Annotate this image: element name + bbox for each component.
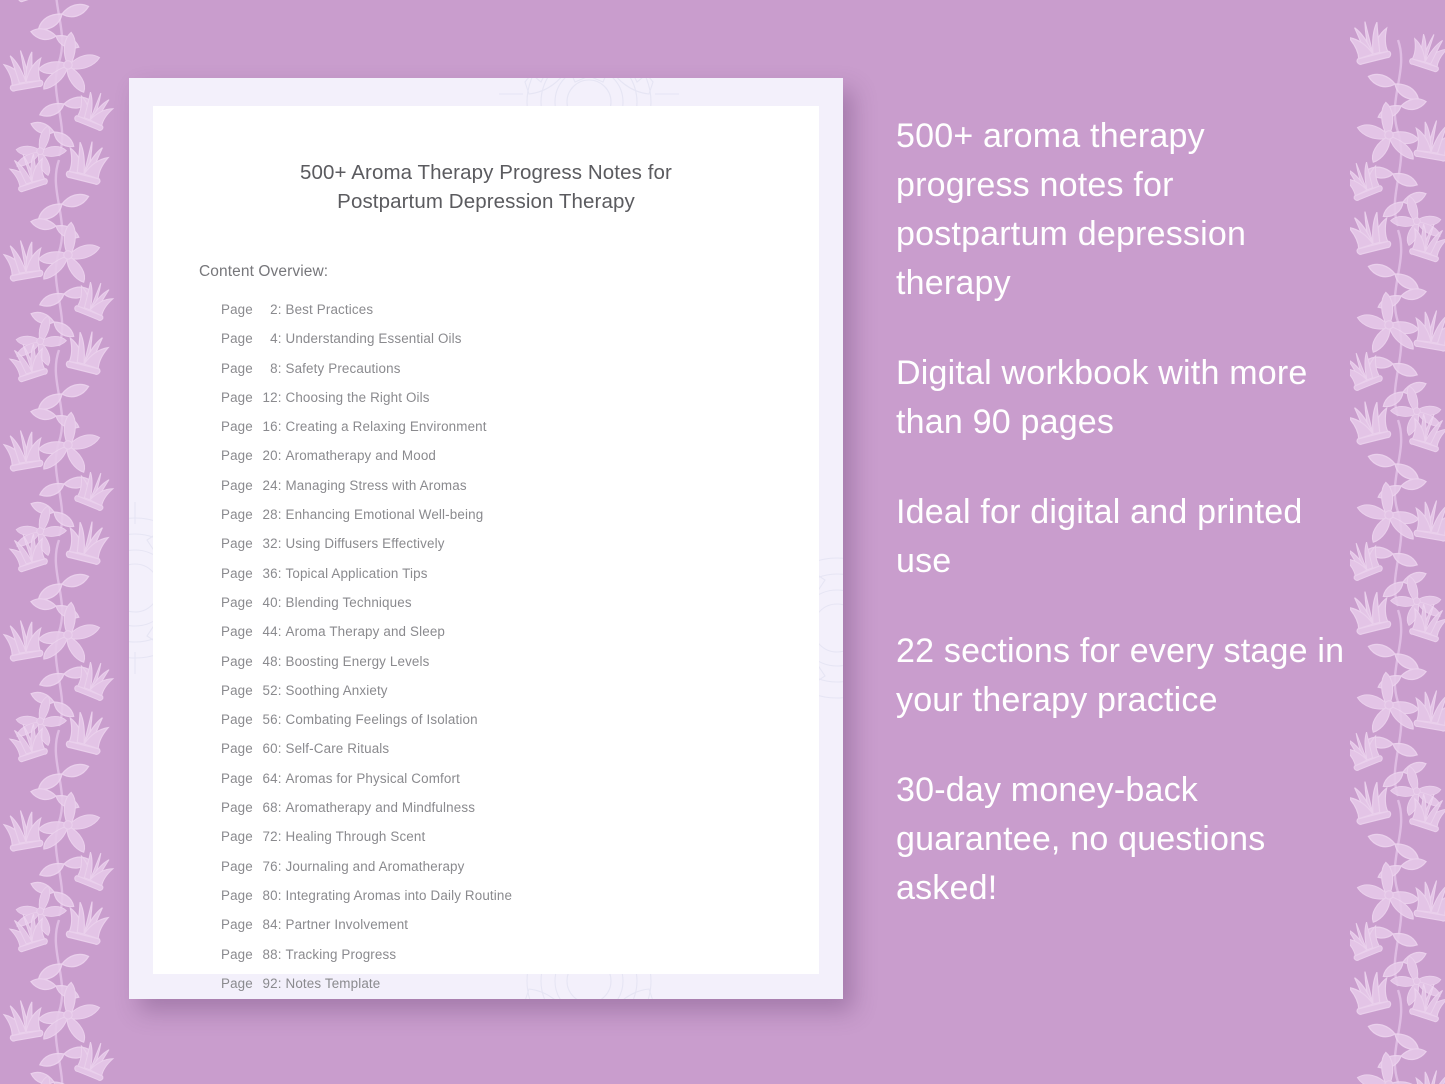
list-item: Page 8: Safety Precautions: [221, 361, 819, 376]
toc-section-title: Enhancing Emotional Well-being: [286, 507, 484, 522]
toc-page-word: Page: [221, 361, 257, 376]
toc-page-word: Page: [221, 624, 257, 639]
list-item: Page 52: Soothing Anxiety: [221, 683, 819, 698]
toc-page-number: 20: [257, 448, 278, 463]
list-item: Page 32: Using Diffusers Effectively: [221, 536, 819, 551]
toc-separator: :: [278, 947, 286, 962]
toc-page-word: Page: [221, 683, 257, 698]
page-title-line-1: 500+ Aroma Therapy Progress Notes for: [300, 161, 672, 184]
toc-separator: :: [278, 419, 286, 434]
toc-page-word: Page: [221, 507, 257, 522]
toc-page-number: 2: [257, 302, 278, 317]
toc-separator: :: [278, 800, 286, 815]
toc-section-title: Healing Through Scent: [286, 829, 426, 844]
toc-page-number: 16: [257, 419, 278, 434]
marketing-block: 22 sections for every stage in your ther…: [896, 627, 1348, 725]
toc-page-number: 60: [257, 741, 278, 756]
toc-separator: :: [278, 771, 286, 786]
toc-section-title: Understanding Essential Oils: [286, 331, 462, 346]
toc-page-number: 56: [257, 712, 278, 727]
toc-separator: :: [278, 331, 286, 346]
list-item: Page 64: Aromas for Physical Comfort: [221, 771, 819, 786]
list-item: Page 68: Aromatherapy and Mindfulness: [221, 800, 819, 815]
toc-page-number: 76: [257, 859, 278, 874]
content-overview-label: Content Overview:: [199, 263, 819, 281]
list-item: Page 4: Understanding Essential Oils: [221, 331, 819, 346]
toc-section-title: Safety Precautions: [286, 361, 401, 376]
toc-separator: :: [278, 448, 286, 463]
toc-section-title: Choosing the Right Oils: [286, 390, 430, 405]
toc-section-title: Tracking Progress: [286, 947, 397, 962]
toc-section-title: Combating Feelings of Isolation: [286, 712, 478, 727]
list-item: Page 92: Notes Template: [221, 976, 819, 991]
floral-border-left: [0, 0, 118, 1084]
list-item: Page 36: Topical Application Tips: [221, 566, 819, 581]
toc-separator: :: [278, 917, 286, 932]
toc-page-word: Page: [221, 419, 257, 434]
floral-border-right: [1350, 0, 1445, 1084]
toc-page-number: 28: [257, 507, 278, 522]
toc-page-word: Page: [221, 947, 257, 962]
toc-page-word: Page: [221, 888, 257, 903]
toc-separator: :: [278, 478, 286, 493]
toc-section-title: Soothing Anxiety: [286, 683, 388, 698]
toc-page-word: Page: [221, 800, 257, 815]
toc-section-title: Aromatherapy and Mood: [286, 448, 437, 463]
page-title-line-2: Postpartum Depression Therapy: [337, 190, 635, 213]
list-item: Page 24: Managing Stress with Aromas: [221, 478, 819, 493]
toc-separator: :: [278, 595, 286, 610]
toc-section-title: Managing Stress with Aromas: [286, 478, 467, 493]
list-item: Page 56: Combating Feelings of Isolation: [221, 712, 819, 727]
toc-section-title: Using Diffusers Effectively: [286, 536, 445, 551]
toc-section-title: Blending Techniques: [286, 595, 412, 610]
toc-separator: :: [278, 741, 286, 756]
toc-separator: :: [278, 507, 286, 522]
toc-page-number: 84: [257, 917, 278, 932]
toc-separator: :: [278, 683, 286, 698]
list-item: Page 60: Self-Care Rituals: [221, 741, 819, 756]
document-card: 500+ Aroma Therapy Progress Notes for Po…: [129, 78, 843, 999]
list-item: Page 28: Enhancing Emotional Well-being: [221, 507, 819, 522]
toc-page-word: Page: [221, 478, 257, 493]
marketing-panel: 500+ aroma therapy progress notes for po…: [896, 112, 1348, 913]
toc-separator: :: [278, 976, 286, 991]
document-page: 500+ Aroma Therapy Progress Notes for Po…: [153, 106, 819, 974]
toc-separator: :: [278, 624, 286, 639]
list-item: Page 44: Aroma Therapy and Sleep: [221, 624, 819, 639]
toc-page-number: 48: [257, 654, 278, 669]
toc-page-number: 44: [257, 624, 278, 639]
toc-page-word: Page: [221, 859, 257, 874]
toc-page-number: 80: [257, 888, 278, 903]
list-item: Page 76: Journaling and Aromatherapy: [221, 859, 819, 874]
toc-page-word: Page: [221, 741, 257, 756]
floral-vine-icon: [1350, 0, 1445, 1084]
list-item: Page 20: Aromatherapy and Mood: [221, 448, 819, 463]
toc-section-title: Best Practices: [286, 302, 374, 317]
toc-separator: :: [278, 859, 286, 874]
toc-section-title: Partner Involvement: [286, 917, 409, 932]
toc-separator: :: [278, 536, 286, 551]
toc-page-word: Page: [221, 976, 257, 991]
toc-separator: :: [278, 390, 286, 405]
toc-page-number: 12: [257, 390, 278, 405]
page-title: 500+ Aroma Therapy Progress Notes for Po…: [205, 158, 767, 216]
toc-separator: :: [278, 654, 286, 669]
marketing-block: 500+ aroma therapy progress notes for po…: [896, 112, 1348, 308]
toc-page-number: 4: [257, 331, 278, 346]
list-item: Page 12: Choosing the Right Oils: [221, 390, 819, 405]
toc-page-word: Page: [221, 390, 257, 405]
toc-page-number: 88: [257, 947, 278, 962]
toc-section-title: Integrating Aromas into Daily Routine: [286, 888, 513, 903]
list-item: Page 48: Boosting Energy Levels: [221, 654, 819, 669]
marketing-block: Digital workbook with more than 90 pages: [896, 349, 1348, 447]
toc-section-title: Creating a Relaxing Environment: [286, 419, 487, 434]
toc-page-word: Page: [221, 536, 257, 551]
toc-section-title: Topical Application Tips: [286, 566, 428, 581]
toc-section-title: Journaling and Aromatherapy: [286, 859, 465, 874]
toc-page-number: 40: [257, 595, 278, 610]
toc-page-number: 8: [257, 361, 278, 376]
toc-section-title: Aroma Therapy and Sleep: [286, 624, 446, 639]
marketing-block: Ideal for digital and printed use: [896, 488, 1348, 586]
list-item: Page 84: Partner Involvement: [221, 917, 819, 932]
list-item: Page 40: Blending Techniques: [221, 595, 819, 610]
floral-vine-icon: [0, 0, 118, 1084]
toc-page-word: Page: [221, 566, 257, 581]
toc-page-word: Page: [221, 448, 257, 463]
table-of-contents-list: Page 2: Best PracticesPage 4: Understand…: [221, 302, 819, 991]
list-item: Page 80: Integrating Aromas into Daily R…: [221, 888, 819, 903]
toc-page-word: Page: [221, 712, 257, 727]
toc-separator: :: [278, 361, 286, 376]
toc-section-title: Aromas for Physical Comfort: [286, 771, 460, 786]
toc-page-word: Page: [221, 302, 257, 317]
list-item: Page 72: Healing Through Scent: [221, 829, 819, 844]
toc-page-word: Page: [221, 331, 257, 346]
toc-section-title: Aromatherapy and Mindfulness: [286, 800, 476, 815]
toc-separator: :: [278, 566, 286, 581]
toc-page-word: Page: [221, 771, 257, 786]
toc-separator: :: [278, 888, 286, 903]
list-item: Page 16: Creating a Relaxing Environment: [221, 419, 819, 434]
toc-page-number: 92: [257, 976, 278, 991]
toc-page-word: Page: [221, 829, 257, 844]
toc-page-number: 24: [257, 478, 278, 493]
toc-page-number: 32: [257, 536, 278, 551]
toc-page-number: 68: [257, 800, 278, 815]
toc-separator: :: [278, 829, 286, 844]
toc-section-title: Boosting Energy Levels: [286, 654, 430, 669]
toc-separator: :: [278, 302, 286, 317]
toc-section-title: Notes Template: [286, 976, 381, 991]
toc-page-number: 52: [257, 683, 278, 698]
toc-page-number: 64: [257, 771, 278, 786]
toc-section-title: Self-Care Rituals: [286, 741, 390, 756]
toc-page-word: Page: [221, 595, 257, 610]
toc-separator: :: [278, 712, 286, 727]
list-item: Page 88: Tracking Progress: [221, 947, 819, 962]
toc-page-number: 72: [257, 829, 278, 844]
toc-page-number: 36: [257, 566, 278, 581]
list-item: Page 2: Best Practices: [221, 302, 819, 317]
marketing-block: 30-day money-back guarantee, no question…: [896, 766, 1348, 913]
toc-page-word: Page: [221, 654, 257, 669]
toc-page-word: Page: [221, 917, 257, 932]
